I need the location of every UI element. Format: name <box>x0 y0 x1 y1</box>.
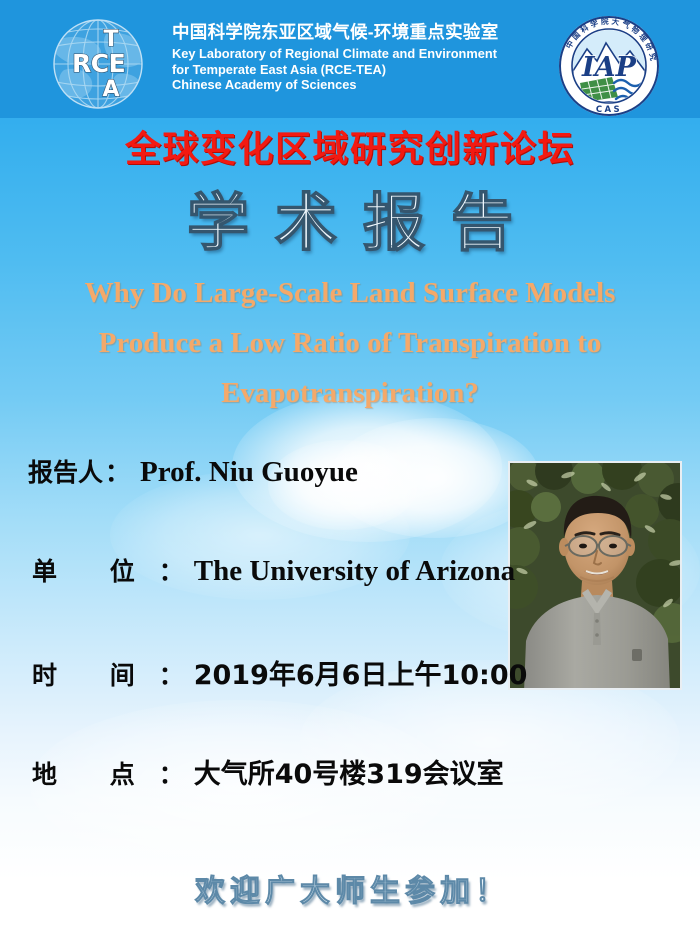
affiliation-value: The University of Arizona <box>194 555 515 588</box>
iap-cas-logo-icon: IAP CAS 中国科学院大气物理研究所 <box>556 13 662 119</box>
speaker-label: 报告人 <box>28 453 103 489</box>
talk-title-line-1: Why Do Large-Scale Land Surface Models <box>24 268 676 318</box>
info-row-affiliation: 单 位 ： The University of Arizona <box>28 552 668 588</box>
speaker-colon: ： <box>105 453 130 489</box>
svg-text:RCE: RCE <box>72 49 125 78</box>
affiliation-label: 单 位 <box>28 552 157 588</box>
forum-title: 全球变化区域研究创新论坛 <box>0 120 700 172</box>
venue-label: 地 点 <box>28 755 157 791</box>
poster-header-band: RCE T A 中国科学院东亚区域气候-环境重点实验室 Key Laborato… <box>0 0 700 118</box>
time-colon: ： <box>159 656 184 692</box>
svg-text:T: T <box>103 27 118 52</box>
lab-name-chinese: 中国科学院东亚区域气候-环境重点实验室 <box>172 22 532 43</box>
svg-text:CAS: CAS <box>596 105 622 115</box>
rce-tea-globe-icon: RCE T A <box>34 16 162 112</box>
time-value: 2019年6月6日上午10:00 <box>194 653 528 692</box>
welcome-message: 欢迎广大师生参加！ <box>0 866 700 910</box>
lecture-poster: RCE T A 中国科学院东亚区域气候-环境重点实验室 Key Laborato… <box>0 0 700 941</box>
talk-title-line-2: Produce a Low Ratio of Transpiration to <box>24 318 676 368</box>
info-row-time: 时 间 ： 2019年6月6日上午10:00 <box>28 653 668 692</box>
time-label: 时 间 <box>28 656 157 692</box>
venue-value: 大气所40号楼319会议室 <box>194 752 504 791</box>
svg-text:A: A <box>102 77 119 102</box>
speaker-name: Prof. Niu Guoyue <box>140 456 358 489</box>
lab-name-english-line3: Chinese Academy of Sciences <box>172 77 532 93</box>
affiliation-colon: ： <box>159 552 184 588</box>
talk-title: Why Do Large-Scale Land Surface Models P… <box>24 268 676 418</box>
venue-colon: ： <box>159 755 184 791</box>
talk-title-line-3: Evapotranspiration? <box>24 368 676 418</box>
info-row-speaker: 报告人 ： Prof. Niu Guoyue <box>28 453 668 489</box>
lecture-heading: 学术报告 <box>0 172 700 262</box>
info-row-venue: 地 点 ： 大气所40号楼319会议室 <box>28 752 668 791</box>
svg-text:IAP: IAP <box>581 52 637 83</box>
lab-name-english-line1: Key Laboratory of Regional Climate and E… <box>172 46 532 62</box>
lab-name-english-line2: for Temperate East Asia (RCE-TEA) <box>172 62 532 78</box>
laboratory-name-block: 中国科学院东亚区域气候-环境重点实验室 Key Laboratory of Re… <box>172 22 532 93</box>
